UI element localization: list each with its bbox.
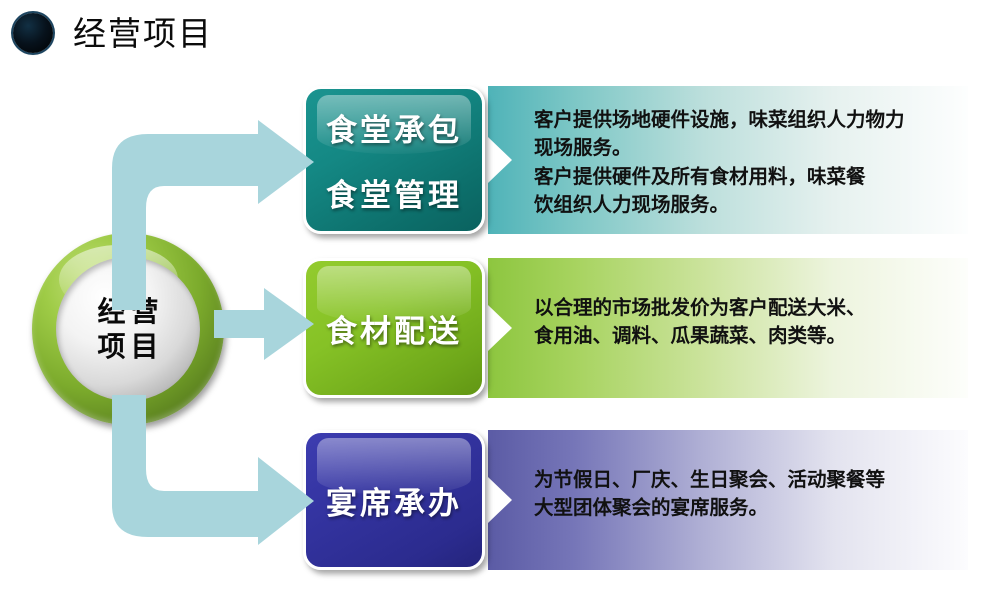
description-band-canteen: 客户提供场地硬件设施，味菜组织人力物力 现场服务。 客户提供硬件及所有食材用料，…: [488, 86, 968, 234]
card-canteen[interactable]: 食堂承包 食堂管理: [303, 86, 485, 234]
card-banquet-line1: 宴席承办: [326, 478, 462, 523]
filled-circle-icon: [13, 13, 53, 53]
page-header: 经营项目: [0, 0, 400, 66]
arrow-right-notch-icon: [488, 137, 512, 183]
hub-label-line2: 项目: [92, 329, 163, 364]
description-text-canteen: 客户提供场地硬件设施，味菜组织人力物力 现场服务。 客户提供硬件及所有食材用料，…: [534, 100, 950, 219]
hub-sphere[interactable]: 经营 项目: [32, 233, 224, 425]
description-band-supply: 以合理的市场批发价为客户配送大米、 食用油、调料、瓜果蔬菜、肉类等。: [488, 258, 968, 398]
hub-label-line1: 经营: [92, 294, 163, 329]
card-canteen-line1: 食堂承包: [326, 105, 462, 150]
hub-core: 经营 项目: [56, 257, 200, 401]
description-band-banquet: 为节假日、厂庆、生日聚会、活动聚餐等 大型团体聚会的宴席服务。: [488, 430, 968, 570]
card-banquet[interactable]: 宴席承办: [303, 430, 485, 570]
description-text-banquet: 为节假日、厂庆、生日聚会、活动聚餐等 大型团体聚会的宴席服务。: [534, 444, 950, 523]
card-supply[interactable]: 食材配送: [303, 258, 485, 398]
arrow-right-notch-icon: [488, 477, 512, 523]
arrow-right-notch-icon: [488, 305, 512, 351]
card-canteen-line2: 食堂管理: [326, 170, 462, 215]
description-text-supply: 以合理的市场批发价为客户配送大米、 食用油、调料、瓜果蔬菜、肉类等。: [534, 272, 950, 351]
page-title: 经营项目: [73, 17, 213, 50]
card-supply-line1: 食材配送: [326, 306, 462, 351]
arrow-right-icon: [214, 288, 314, 360]
